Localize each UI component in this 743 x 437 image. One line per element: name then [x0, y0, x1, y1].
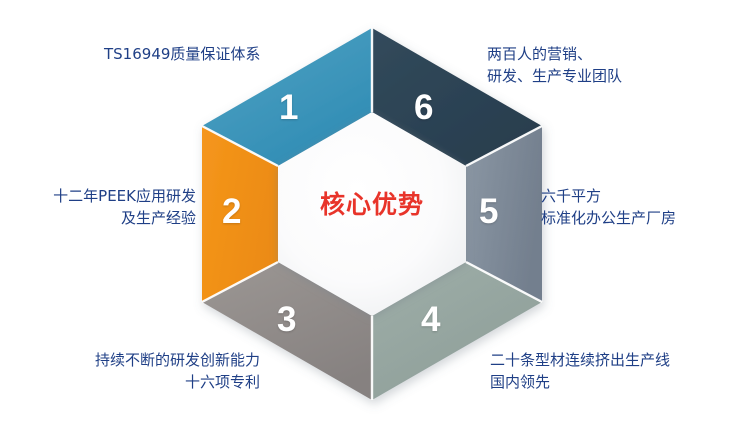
caption-segment-6: 两百人的营销、 研发、生产专业团队: [487, 44, 622, 88]
caption-segment-3-line-2: 十六项专利: [95, 372, 260, 394]
caption-segment-5: 六千平方 标准化办公生产厂房: [541, 186, 676, 230]
caption-segment-6-line-2: 研发、生产专业团队: [487, 66, 622, 88]
caption-segment-6-line-1: 两百人的营销、: [487, 44, 622, 66]
infographic-canvas: 1 6 2 5 3 4 核心优势 TS16949质量保证体系 两百人的营销、 研…: [0, 0, 743, 437]
caption-segment-5-line-1: 六千平方: [541, 186, 676, 208]
caption-segment-4-line-1: 二十条型材连续挤出生产线: [490, 350, 670, 372]
caption-segment-1-line-1: TS16949质量保证体系: [104, 44, 260, 66]
caption-segment-2-line-1: 十二年PEEK应用研发: [53, 186, 196, 208]
caption-segment-1: TS16949质量保证体系: [104, 44, 260, 66]
caption-segment-3: 持续不断的研发创新能力 十六项专利: [95, 350, 260, 394]
caption-segment-4: 二十条型材连续挤出生产线 国内领先: [490, 350, 670, 394]
caption-segment-3-line-1: 持续不断的研发创新能力: [95, 350, 260, 372]
caption-segment-4-line-2: 国内领先: [490, 372, 670, 394]
center-title: 核心优势: [302, 190, 442, 220]
caption-segment-5-line-2: 标准化办公生产厂房: [541, 208, 676, 230]
caption-segment-2: 十二年PEEK应用研发 及生产经验: [53, 186, 196, 230]
caption-segment-2-line-2: 及生产经验: [53, 208, 196, 230]
